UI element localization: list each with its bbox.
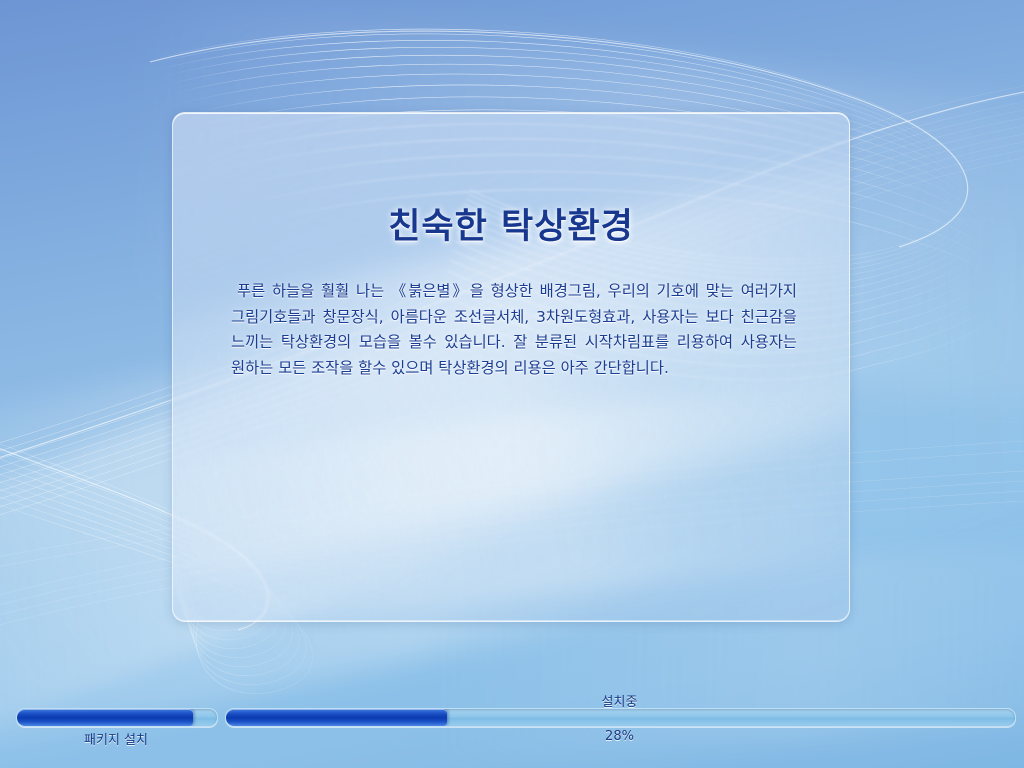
slide-paragraph: 푸른 하늘을 훨훨 나는 《붉은별》을 형상한 배경그림, 우리의 기호에 맞는…	[231, 279, 797, 381]
slideshow-panel: 친숙한 탁상환경 푸른 하늘을 훨훨 나는 《붉은별》을 형상한 배경그림, 우…	[172, 112, 850, 622]
slideshow-panel-content: 친숙한 탁상환경 푸른 하늘을 훨훨 나는 《붉은별》을 형상한 배경그림, 우…	[173, 113, 849, 381]
overall-progress-percent: 28%	[225, 729, 1014, 744]
slide-body: 푸른 하늘을 훨훨 나는 《붉은별》을 형상한 배경그림, 우리의 기호에 맞는…	[173, 249, 849, 381]
package-progress-label: 패키지 설치	[16, 729, 216, 748]
package-progress-bar	[16, 708, 218, 727]
package-progress-fill	[17, 709, 193, 726]
slide-title: 친숙한 탁상환경	[173, 113, 849, 249]
overall-progress-bar	[225, 708, 1016, 727]
installer-slideshow-screen: 친숙한 탁상환경 푸른 하늘을 훨훨 나는 《붉은별》을 형상한 배경그림, 우…	[0, 0, 1024, 768]
installer-progress-area: 설치중 패키지 설치 28%	[0, 686, 1024, 768]
overall-progress-fill	[226, 709, 447, 726]
